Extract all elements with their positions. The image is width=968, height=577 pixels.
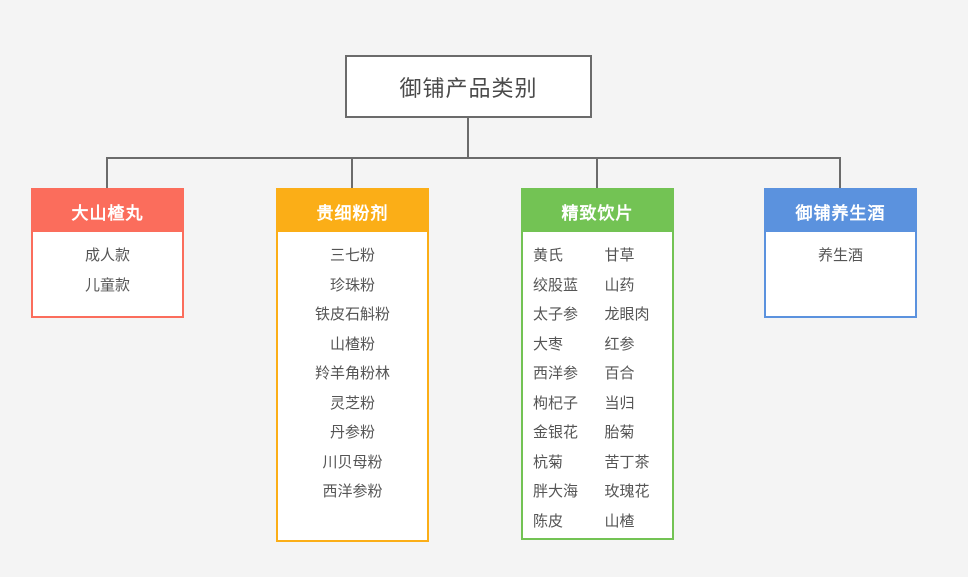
- category-items-2: 三七粉 珍珠粉 铁皮石斛粉 山楂粉 羚羊角粉林 灵芝粉 丹参粉 川贝母粉 西洋参…: [278, 232, 427, 507]
- category-title-4: 御铺养生酒: [796, 199, 886, 224]
- list-item[interactable]: 红参: [604, 330, 672, 360]
- list-item[interactable]: 绞股蓝: [531, 271, 604, 301]
- category-items-4: 养生酒: [766, 232, 915, 271]
- list-item[interactable]: 山药: [604, 271, 672, 301]
- list-item[interactable]: 当归: [604, 389, 672, 419]
- list-item[interactable]: 陈皮: [531, 507, 604, 537]
- list-item[interactable]: 西洋参粉: [278, 477, 427, 507]
- list-item[interactable]: 西洋参: [531, 359, 604, 389]
- connector-drop-1: [106, 157, 108, 188]
- list-item[interactable]: 丹参粉: [278, 418, 427, 448]
- list-item[interactable]: 太子参: [531, 300, 604, 330]
- category-header-1: 大山楂丸: [33, 190, 182, 232]
- connector-drop-2: [351, 157, 353, 188]
- list-item[interactable]: 甘草: [604, 241, 672, 271]
- category-title-3: 精致饮片: [562, 199, 634, 224]
- root-node[interactable]: 御铺产品类别: [345, 55, 592, 118]
- root-node-label: 御铺产品类别: [399, 71, 537, 103]
- category-box-3[interactable]: 精致饮片 黄氏 甘草 绞股蓝 山药 太子参 龙眼肉 大枣 红参 西洋参 百合: [521, 188, 674, 540]
- category-header-3: 精致饮片: [523, 190, 672, 232]
- list-item[interactable]: 金银花: [531, 418, 604, 448]
- category-title-2: 贵细粉剂: [317, 199, 389, 224]
- list-item[interactable]: 龙眼肉: [604, 300, 672, 330]
- list-item[interactable]: 成人款: [33, 241, 182, 271]
- category-header-2: 贵细粉剂: [278, 190, 427, 232]
- list-item[interactable]: 杭菊: [531, 448, 604, 478]
- list-item-row: 黄氏 甘草: [531, 241, 672, 271]
- list-item[interactable]: 珍珠粉: [278, 271, 427, 301]
- list-item-row: 大枣 红参: [531, 330, 672, 360]
- list-item[interactable]: 黄氏: [531, 241, 604, 271]
- list-item[interactable]: 苦丁茶: [604, 448, 672, 478]
- list-item[interactable]: 羚羊角粉林: [278, 359, 427, 389]
- list-item-row: 枸杞子 当归: [531, 389, 672, 419]
- list-item[interactable]: 枸杞子: [531, 389, 604, 419]
- list-item-row: 陈皮 山楂: [531, 507, 672, 537]
- category-title-1: 大山楂丸: [72, 199, 144, 224]
- category-box-2[interactable]: 贵细粉剂 三七粉 珍珠粉 铁皮石斛粉 山楂粉 羚羊角粉林 灵芝粉 丹参粉 川贝母…: [276, 188, 429, 542]
- list-item[interactable]: 山楂: [604, 507, 672, 537]
- list-item[interactable]: 铁皮石斛粉: [278, 300, 427, 330]
- connector-horizontal-bus: [106, 157, 840, 159]
- list-item[interactable]: 养生酒: [766, 241, 915, 271]
- list-item[interactable]: 玫瑰花: [604, 477, 672, 507]
- category-box-1[interactable]: 大山楂丸 成人款 儿童款: [31, 188, 184, 318]
- list-item-row: 西洋参 百合: [531, 359, 672, 389]
- list-item-row: 金银花 胎菊: [531, 418, 672, 448]
- category-items-3: 黄氏 甘草 绞股蓝 山药 太子参 龙眼肉 大枣 红参 西洋参 百合 枸杞子 当归: [523, 232, 672, 536]
- list-item[interactable]: 山楂粉: [278, 330, 427, 360]
- connector-root-stem: [467, 118, 469, 158]
- list-item-row: 杭菊 苦丁茶: [531, 448, 672, 478]
- list-item[interactable]: 川贝母粉: [278, 448, 427, 478]
- category-items-1: 成人款 儿童款: [33, 232, 182, 300]
- list-item[interactable]: 儿童款: [33, 271, 182, 301]
- list-item[interactable]: 大枣: [531, 330, 604, 360]
- org-chart-canvas: 御铺产品类别 大山楂丸 成人款 儿童款 贵细粉剂 三七粉 珍珠粉 铁皮石斛粉 山…: [0, 0, 968, 577]
- list-item-row: 绞股蓝 山药: [531, 271, 672, 301]
- connector-drop-4: [839, 157, 841, 188]
- list-item[interactable]: 胖大海: [531, 477, 604, 507]
- list-item[interactable]: 胎菊: [604, 418, 672, 448]
- category-header-4: 御铺养生酒: [766, 190, 915, 232]
- list-item-row: 胖大海 玫瑰花: [531, 477, 672, 507]
- list-item[interactable]: 灵芝粉: [278, 389, 427, 419]
- connector-drop-3: [596, 157, 598, 188]
- category-box-4[interactable]: 御铺养生酒 养生酒: [764, 188, 917, 318]
- list-item[interactable]: 百合: [604, 359, 672, 389]
- list-item-row: 太子参 龙眼肉: [531, 300, 672, 330]
- list-item[interactable]: 三七粉: [278, 241, 427, 271]
